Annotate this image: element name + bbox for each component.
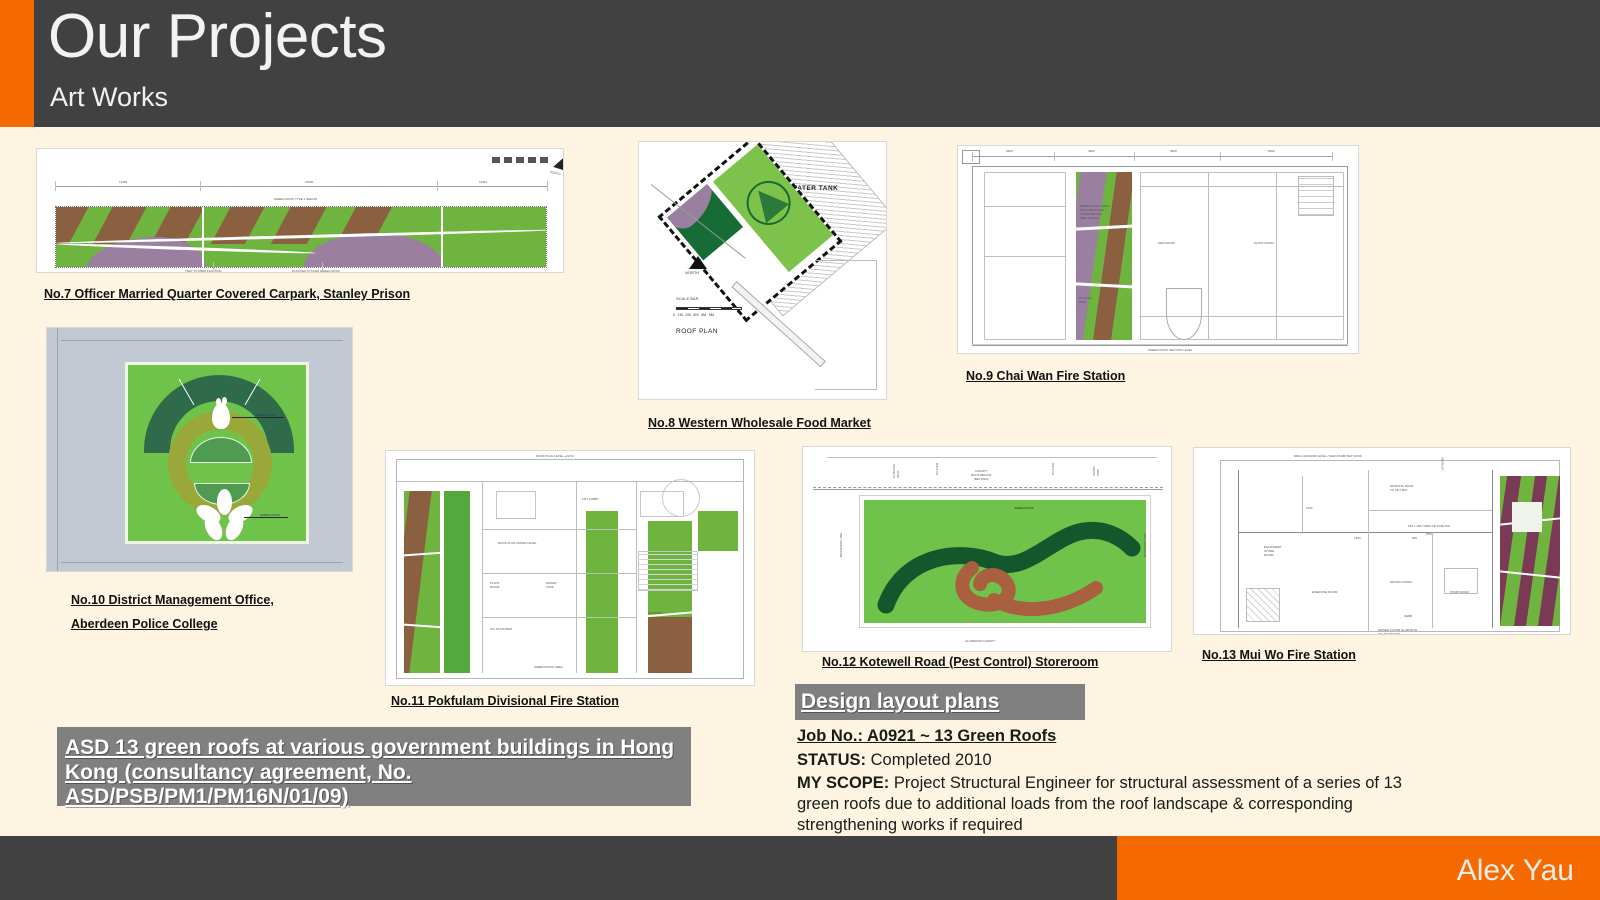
fig-12-drawing: CANOPYROOF BELOW(BEYOND) EXISTINGWALL GU… xyxy=(803,447,1171,651)
north-arrow-icon xyxy=(553,153,564,173)
footer-author-name: Alex Yau xyxy=(1457,854,1574,888)
figure-11-image[interactable]: ROOF PLAN LEVEL +23.50 xyxy=(385,450,755,686)
north-label: NORTH xyxy=(685,270,699,275)
design-layout-heading: Design layout plans xyxy=(795,684,1085,714)
figure-10-caption: No.10 District Management Office, Aberde… xyxy=(71,589,311,637)
north-arrow-icon xyxy=(689,256,707,269)
figure-10-image[interactable]: GREEN ROOF GREEN ROOF xyxy=(46,327,353,572)
header-accent-bar xyxy=(0,0,34,127)
design-layout-heading-banner: Design layout plans xyxy=(795,684,1085,720)
fig-7-drawing: NORTH 11450 21000 10351 GREEN ROOF TYPE … xyxy=(37,149,563,272)
figure-8-image[interactable]: WATER TANK NORTH SCALE BAR 0 1M xyxy=(638,141,887,400)
legend-strip xyxy=(492,157,552,163)
fig-8-drawing: WATER TANK NORTH SCALE BAR 0 1M xyxy=(639,142,886,399)
figure-9-image[interactable]: 3200 4500 4500 6200 MAIN ROO xyxy=(957,145,1359,354)
slide-header: Our Projects Art Works xyxy=(0,0,1600,127)
figure-8-caption: No.8 Western Wholesale Food Market xyxy=(648,416,871,430)
slide: Our Projects Art Works NORTH 11450 21000… xyxy=(0,0,1600,900)
fig-11-drawing: ROOF PLAN LEVEL +23.50 xyxy=(386,451,754,685)
footer-dark-bar xyxy=(0,836,1117,900)
status-label: STATUS: xyxy=(797,751,866,769)
north-label: NORTH xyxy=(550,170,561,177)
fig-13-drawing: DRILL GROUND LEVEL / MAIN PUMP BAY ROOF … xyxy=(1194,448,1570,634)
asd-summary-banner: ASD 13 green roofs at various government… xyxy=(57,727,691,806)
figure-9-caption: No.9 Chai Wan Fire Station xyxy=(966,369,1125,383)
figure-12-caption: No.12 Kotewell Road (Pest Control) Store… xyxy=(822,655,1098,669)
fig-9-drawing: 3200 4500 4500 6200 MAIN ROO xyxy=(958,146,1358,353)
figure-7-image[interactable]: NORTH 11450 21000 10351 GREEN ROOF TYPE … xyxy=(36,148,564,273)
status-value: Completed 2010 xyxy=(871,751,992,769)
figure-10-caption-line2: Aberdeen Police College xyxy=(71,617,218,631)
job-number-line: Job No.: A0921 ~ 13 Green Roofs xyxy=(797,727,1056,746)
asd-summary-text: ASD 13 green roofs at various government… xyxy=(57,727,691,810)
status-line: STATUS: Completed 2010 xyxy=(797,751,992,770)
figure-13-caption: No.13 Mui Wo Fire Station xyxy=(1202,648,1356,662)
figure-13-image[interactable]: DRILL GROUND LEVEL / MAIN PUMP BAY ROOF … xyxy=(1193,447,1571,635)
scope-line: MY SCOPE: Project Structural Engineer fo… xyxy=(797,773,1422,836)
fig-10-drawing: GREEN ROOF GREEN ROOF xyxy=(47,328,352,571)
figure-7-caption: No.7 Officer Married Quarter Covered Car… xyxy=(44,287,410,301)
page-title: Our Projects xyxy=(48,2,387,71)
figure-10-caption-line1: No.10 District Management Office, xyxy=(71,593,274,607)
page-subtitle: Art Works xyxy=(50,82,168,113)
scope-label: MY SCOPE: xyxy=(797,774,889,792)
roof-plan-strip xyxy=(55,206,547,268)
figure-12-image[interactable]: CANOPYROOF BELOW(BEYOND) EXISTINGWALL GU… xyxy=(802,446,1172,652)
figure-11-caption: No.11 Pokfulam Divisional Fire Station xyxy=(391,694,619,708)
